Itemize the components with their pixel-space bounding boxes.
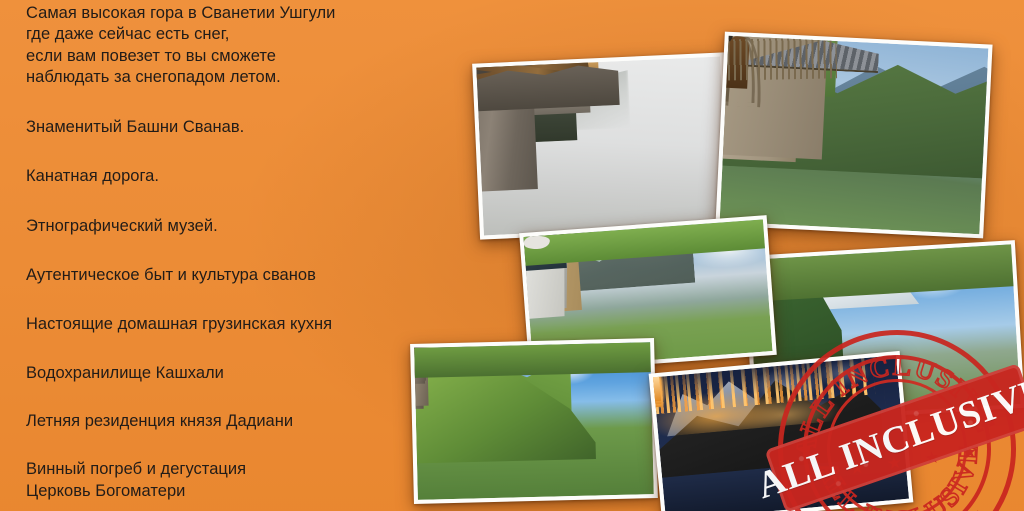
- paragraph-cuisine: Настоящие домашная грузинская кухня: [26, 314, 416, 335]
- photo-svan-tower-misty: [472, 52, 732, 239]
- photo-old-stone-church: [715, 32, 992, 239]
- tour-highlights-text: Самая высокая гора в Сванетии Ушгули где…: [26, 3, 416, 502]
- photo-ushguli-village-daytime: [410, 338, 658, 504]
- paragraph-svan-towers: Знаменитый Башни Сванав.: [26, 117, 416, 138]
- paragraph-intro: Самая высокая гора в Сванетии Ушгули где…: [26, 3, 416, 88]
- presentation-slide: Самая высокая гора в Сванетии Ушгули где…: [0, 0, 1024, 511]
- paragraph-ethno-museum: Этнографический музей.: [26, 216, 416, 237]
- paragraph-cable-car: Канатная дорога.: [26, 166, 416, 187]
- paragraph-reservoir: Водохранилище Кашхали: [26, 363, 416, 384]
- paragraph-dadiani: Летняя резиденция князя Дадиани: [26, 411, 416, 432]
- paragraph-wine-church: Винный погреб и дегустация Церковь Богом…: [26, 459, 416, 502]
- paragraph-svan-culture: Аутентическое быт и культура сванов: [26, 265, 416, 286]
